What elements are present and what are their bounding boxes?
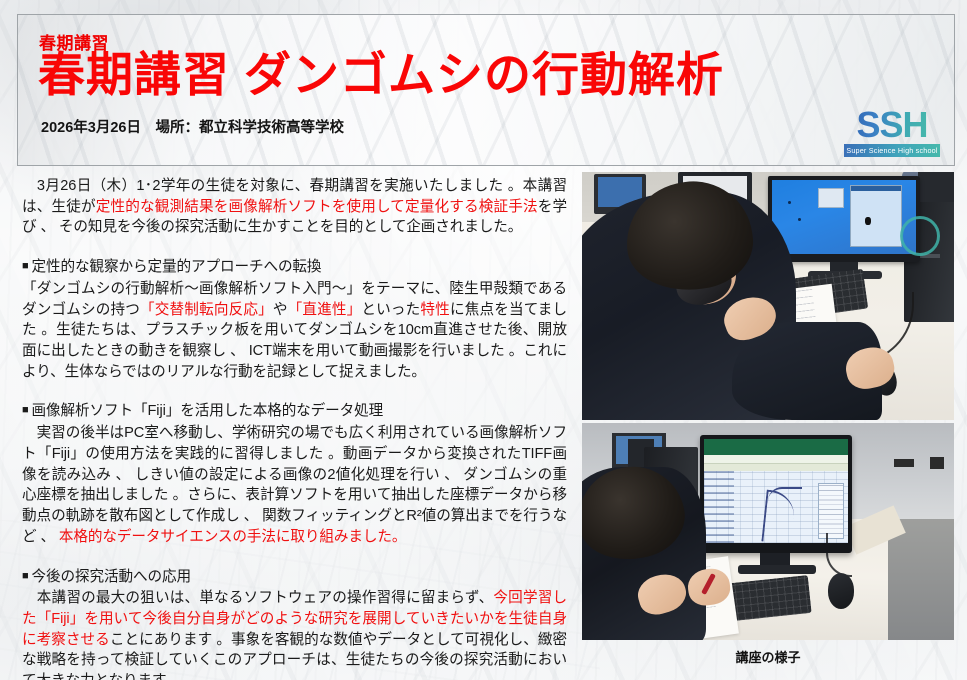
section-3-heading: ■今後の探究活動への応用 xyxy=(22,567,567,588)
bullet-square-icon: ■ xyxy=(22,260,29,272)
section-2-text-1: 実習の後半はPC室へ移動し、学術研究の場でも広く利用されている画像解析ソフト「F… xyxy=(22,425,567,545)
screen-icon xyxy=(788,201,791,204)
cable-coil xyxy=(900,216,940,256)
section-3-text-1: 本講習の最大の狙いは、単なるソフトウェアの操作習得に留まらず、 xyxy=(22,590,493,606)
wall-sign xyxy=(894,459,914,467)
chart-legend-panel xyxy=(818,483,844,539)
paragraph-section-2: ■画像解析ソフト「Fiji」を活用した本格的なデータ処理 実習の後半はPC室へ移… xyxy=(22,401,567,547)
section-1-heading-text: 定性的な観察から定量的アプローチへの転換 xyxy=(32,259,322,275)
page-title: 春期講習 ダンゴムシの行動解析 xyxy=(38,51,724,98)
section-2-highlight-1: 本格的なデータサイエンスの手法に取り組みました。 xyxy=(59,529,406,545)
photo-column: 講座の様子 xyxy=(582,172,954,666)
section-1-heading: ■定性的な観察から定量的アプローチへの転換 xyxy=(22,257,567,278)
photo-student-at-pc xyxy=(582,172,954,420)
monitor-screen-spreadsheet xyxy=(704,439,848,543)
pc-tower xyxy=(918,172,954,206)
spreadsheet-ribbon xyxy=(704,455,848,464)
section-1-text-2: や xyxy=(273,302,288,318)
screen-icon xyxy=(798,218,801,221)
section-1-highlight-1: 「交替制転向反応」 xyxy=(140,302,273,318)
section-1-highlight-3: 特性 xyxy=(420,302,450,318)
ssh-logo-letters: SSH xyxy=(844,107,940,143)
section-2-heading: ■画像解析ソフト「Fiji」を活用した本格的なデータ処理 xyxy=(22,401,567,422)
section-2-heading-text: 画像解析ソフト「Fiji」を活用した本格的なデータ処理 xyxy=(32,403,384,419)
fiji-toolbar-window xyxy=(818,188,844,208)
ssh-logo-tagline: Super Science High school xyxy=(844,144,940,157)
intro-highlight-1: 定性的な観測結果を画像解析ソフトを使用して定量化する検証手法 xyxy=(96,199,538,215)
computer-mouse xyxy=(828,573,854,609)
paragraph-section-1: ■定性的な観察から定量的アプローチへの転換「ダンゴムシの行動解析〜画像解析ソフト… xyxy=(22,257,567,382)
section-3-heading-text: 今後の探究活動への応用 xyxy=(32,569,191,585)
fiji-image-window xyxy=(850,185,902,247)
bullet-square-icon: ■ xyxy=(22,404,29,416)
article-body: 3月26日（木）1･2学年の生徒を対象に、春期講習を実施いたしました 。本講習は… xyxy=(22,176,567,680)
spreadsheet-data-column xyxy=(704,471,734,543)
photo-caption: 講座の様子 xyxy=(582,647,954,666)
spreadsheet-titlebar xyxy=(704,439,848,455)
scatter-plot-trajectory-tail xyxy=(768,487,802,501)
ssh-logo: SSH Super Science High school xyxy=(844,107,940,157)
photo-spreadsheet-scatter xyxy=(582,423,954,640)
poster-page: 春期講習 春期講習 ダンゴムシの行動解析 2026年3月26日 場所：都立科学技… xyxy=(0,0,967,680)
paragraph-intro: 3月26日（木）1･2学年の生徒を対象に、春期講習を実施いたしました 。本講習は… xyxy=(22,176,567,238)
monitor-base xyxy=(738,565,816,574)
header-date-location: 2026年3月26日 場所：都立科学技術高等学校 xyxy=(41,116,344,137)
spreadsheet-formula-bar xyxy=(704,464,848,471)
paragraph-section-3: ■今後の探究活動への応用 本講習の最大の狙いは、単なるソフトウェアの操作習得に留… xyxy=(22,567,567,680)
bullet-square-icon: ■ xyxy=(22,570,29,582)
floor-area xyxy=(888,519,954,640)
wall-sign xyxy=(930,457,944,469)
header-banner: 春期講習 春期講習 ダンゴムシの行動解析 2026年3月26日 場所：都立科学技… xyxy=(17,14,955,166)
section-1-highlight-2: 「直進性」 xyxy=(288,302,362,318)
specimen-blob xyxy=(865,217,871,225)
section-1-text-3: といった xyxy=(361,302,420,318)
